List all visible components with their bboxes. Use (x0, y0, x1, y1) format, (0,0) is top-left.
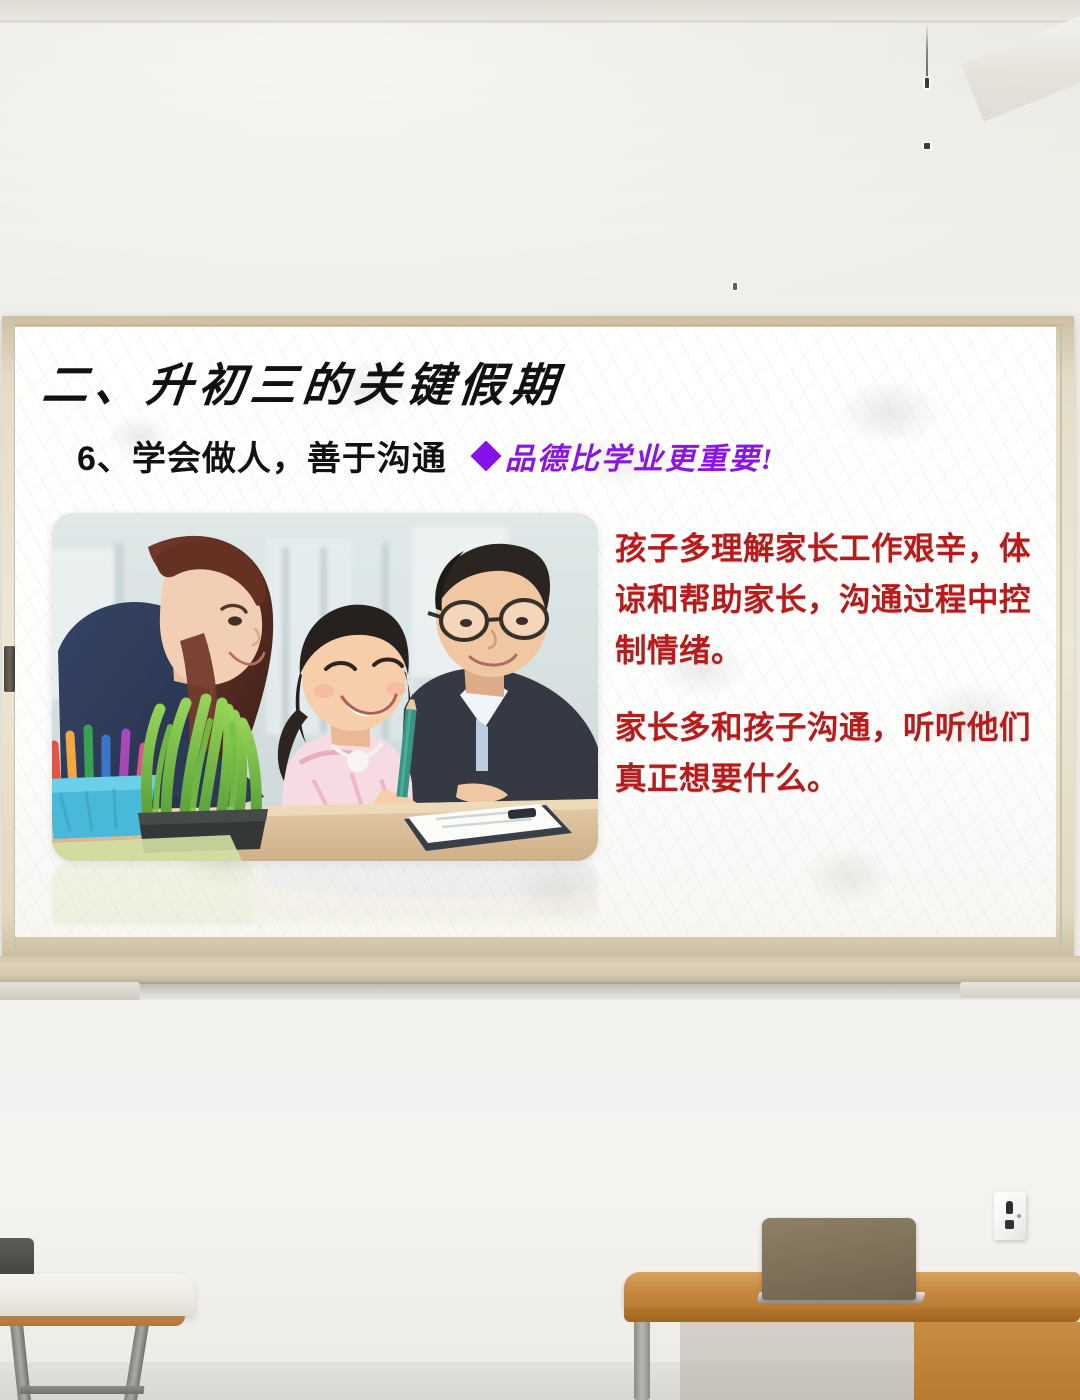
classroom-scene: 二、升初三的关键假期 6、学会做人，善于沟通 品德比学业更重要! (0, 0, 1080, 1400)
outlet-slot-bottom (1005, 1220, 1014, 1229)
presentation-slide: 二、升初三的关键假期 6、学会做人，善于沟通 品德比学业更重要! (15, 327, 1056, 937)
student-desk-crossbar (20, 1386, 145, 1394)
slide-paragraph-2: 家长多和孩子沟通，听听他们真正想要什么。 (615, 702, 1039, 804)
outlet-slot-top (1006, 1201, 1013, 1214)
student-desk (0, 1274, 195, 1400)
upper-wall (0, 22, 1080, 322)
screen-bottom-ledge (0, 956, 1080, 984)
laptop[interactable] (756, 1218, 922, 1306)
projection-screen-assembly: 二、升初三的关键假期 6、学会做人，善于沟通 品德比学业更重要! (0, 316, 1080, 984)
wall-speck-icon (733, 283, 737, 290)
family-study-photo-illustration (52, 513, 598, 861)
slide-body-text: 孩子多理解家长工作艰辛，体谅和帮助家长，沟通过程中控制情绪。 家长多和孩子沟通，… (615, 523, 1039, 804)
slide-emphasis-text: 品德比学业更重要! (505, 434, 775, 478)
diamond-bullet-icon (470, 440, 501, 471)
slide-title: 二、升初三的关键假期 (40, 349, 567, 415)
photo-reflection-shape (52, 863, 598, 925)
slide-paragraph-1: 孩子多理解家长工作艰辛，体谅和帮助家长，沟通过程中控制情绪。 (615, 523, 1039, 676)
teacher-desk-leg (634, 1322, 650, 1400)
slide-subtitle-row: 6、学会做人，善于沟通 品德比学业更重要! (77, 431, 775, 480)
laptop-lid (762, 1218, 916, 1300)
outlet-screw (1017, 1214, 1021, 1218)
frame-latch-icon[interactable] (4, 646, 15, 692)
teacher-desk-panel (914, 1322, 1080, 1400)
ledge-left-bracket (0, 982, 140, 1000)
slide-emphasis-group: 品德比学业更重要! (475, 434, 775, 478)
wire-end-fitting-icon (925, 78, 929, 88)
student-chair-back (0, 1238, 34, 1278)
photo-reflection (52, 863, 598, 925)
teacher-desk-edge (624, 1308, 1080, 1322)
wall-outlet-icon[interactable] (994, 1192, 1026, 1240)
ceiling (0, 0, 1080, 22)
ledge-right-bracket (960, 982, 1080, 998)
ceiling-hanging-wire (926, 24, 928, 82)
ceiling-edge-line (0, 20, 1080, 23)
slide-photo (52, 513, 598, 861)
wall-anchor-dot-icon (924, 143, 930, 149)
student-desk-top (0, 1274, 195, 1316)
slide-subtitle: 6、学会做人，善于沟通 (77, 431, 447, 480)
